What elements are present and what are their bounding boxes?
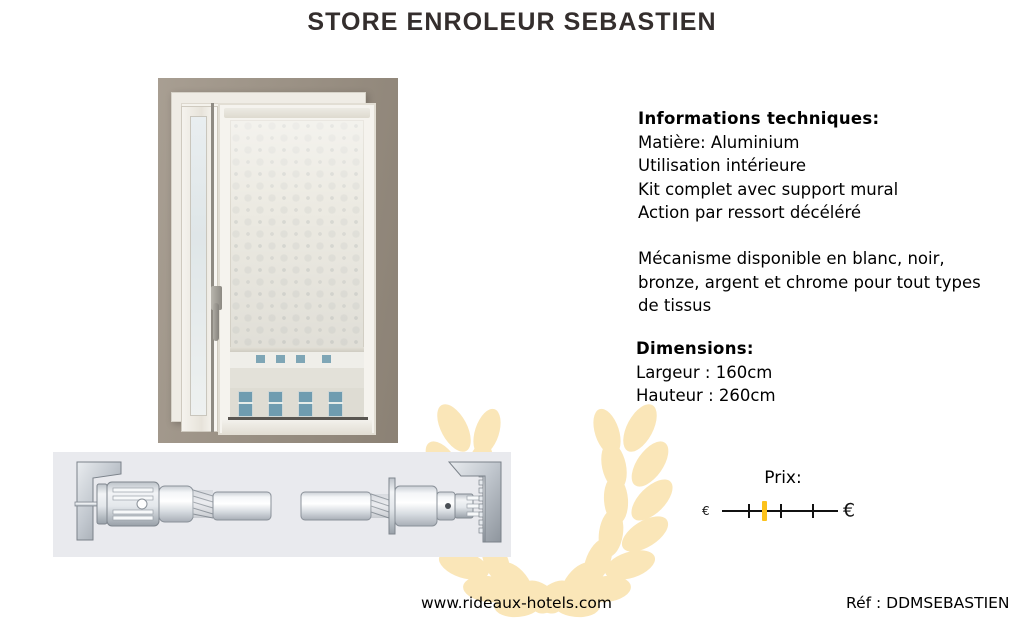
building-window [268, 391, 283, 417]
price-tick-1 [748, 504, 750, 518]
coupling-collar [389, 478, 455, 534]
open-sash-edge [211, 103, 214, 432]
building-window [322, 355, 331, 363]
technical-information-heading: Informations techniques: [638, 107, 988, 131]
dimensions-block: Dimensions: Largeur : 160cm Hauteur : 26… [636, 337, 956, 408]
mechanism-drawing [53, 452, 511, 557]
euro-low-icon: € [702, 505, 710, 517]
window-view-outside [230, 352, 364, 420]
left-spring [193, 490, 213, 518]
open-sash-glass [190, 116, 207, 416]
page-title: STORE ENROLEUR SEBASTIEN [0, 8, 1024, 37]
price-tick-3 [812, 504, 814, 518]
info-line-action: Action par ressort décéléré [638, 201, 988, 225]
building-window [238, 391, 253, 417]
euro-high-icon: € [843, 502, 855, 521]
blind-sheen [230, 120, 364, 352]
technical-information-block: Informations techniques: Matière: Alumin… [638, 107, 988, 225]
window-handle-lever [213, 303, 219, 341]
dimensions-heading: Dimensions: [636, 337, 956, 361]
info-line-utilisation: Utilisation intérieure [638, 154, 988, 178]
window-photo [158, 78, 398, 443]
price-block: Prix: € € [690, 468, 880, 525]
window-casing-inner [181, 103, 357, 411]
building-window [298, 391, 313, 417]
info-line-matiere: Matière: Aluminium [638, 131, 988, 155]
price-tick-2 [780, 504, 782, 518]
mechanism-diagram-panel [53, 452, 511, 557]
window-fixed-frame [218, 103, 376, 435]
roller-blind-fabric [230, 120, 364, 352]
building-cornice [230, 368, 364, 388]
mechanism-availability-note: Mécanisme disponible en blanc, noir, bro… [638, 247, 982, 318]
building-window [296, 355, 305, 363]
building-window [276, 355, 285, 363]
right-roller-tube [301, 492, 371, 520]
product-sheet-page: STORE ENROLEUR SEBASTIEN [0, 0, 1024, 618]
dimension-largeur: Largeur : 160cm [636, 361, 956, 385]
product-reference: Réf : DDMSEBASTIEN [846, 594, 1010, 612]
building-lower-floor [230, 388, 364, 420]
right-spring [371, 494, 389, 518]
price-marker[interactable] [762, 501, 767, 521]
dimension-hauteur: Hauteur : 260cm [636, 384, 956, 408]
building-window [328, 391, 343, 417]
price-scale[interactable]: € € [690, 497, 880, 525]
window-sill [222, 420, 372, 434]
info-line-kit: Kit complet avec support mural [638, 178, 988, 202]
price-label: Prix: [690, 468, 876, 488]
building-window [256, 355, 265, 363]
left-roller-tube [213, 492, 271, 520]
building-upper-floor [230, 352, 364, 368]
window-casing [171, 92, 366, 422]
site-url[interactable]: www.rideaux-hotels.com [421, 594, 612, 612]
mechanism-note-text: Mécanisme disponible en blanc, noir, bro… [638, 247, 982, 318]
blind-headrail [224, 108, 370, 118]
